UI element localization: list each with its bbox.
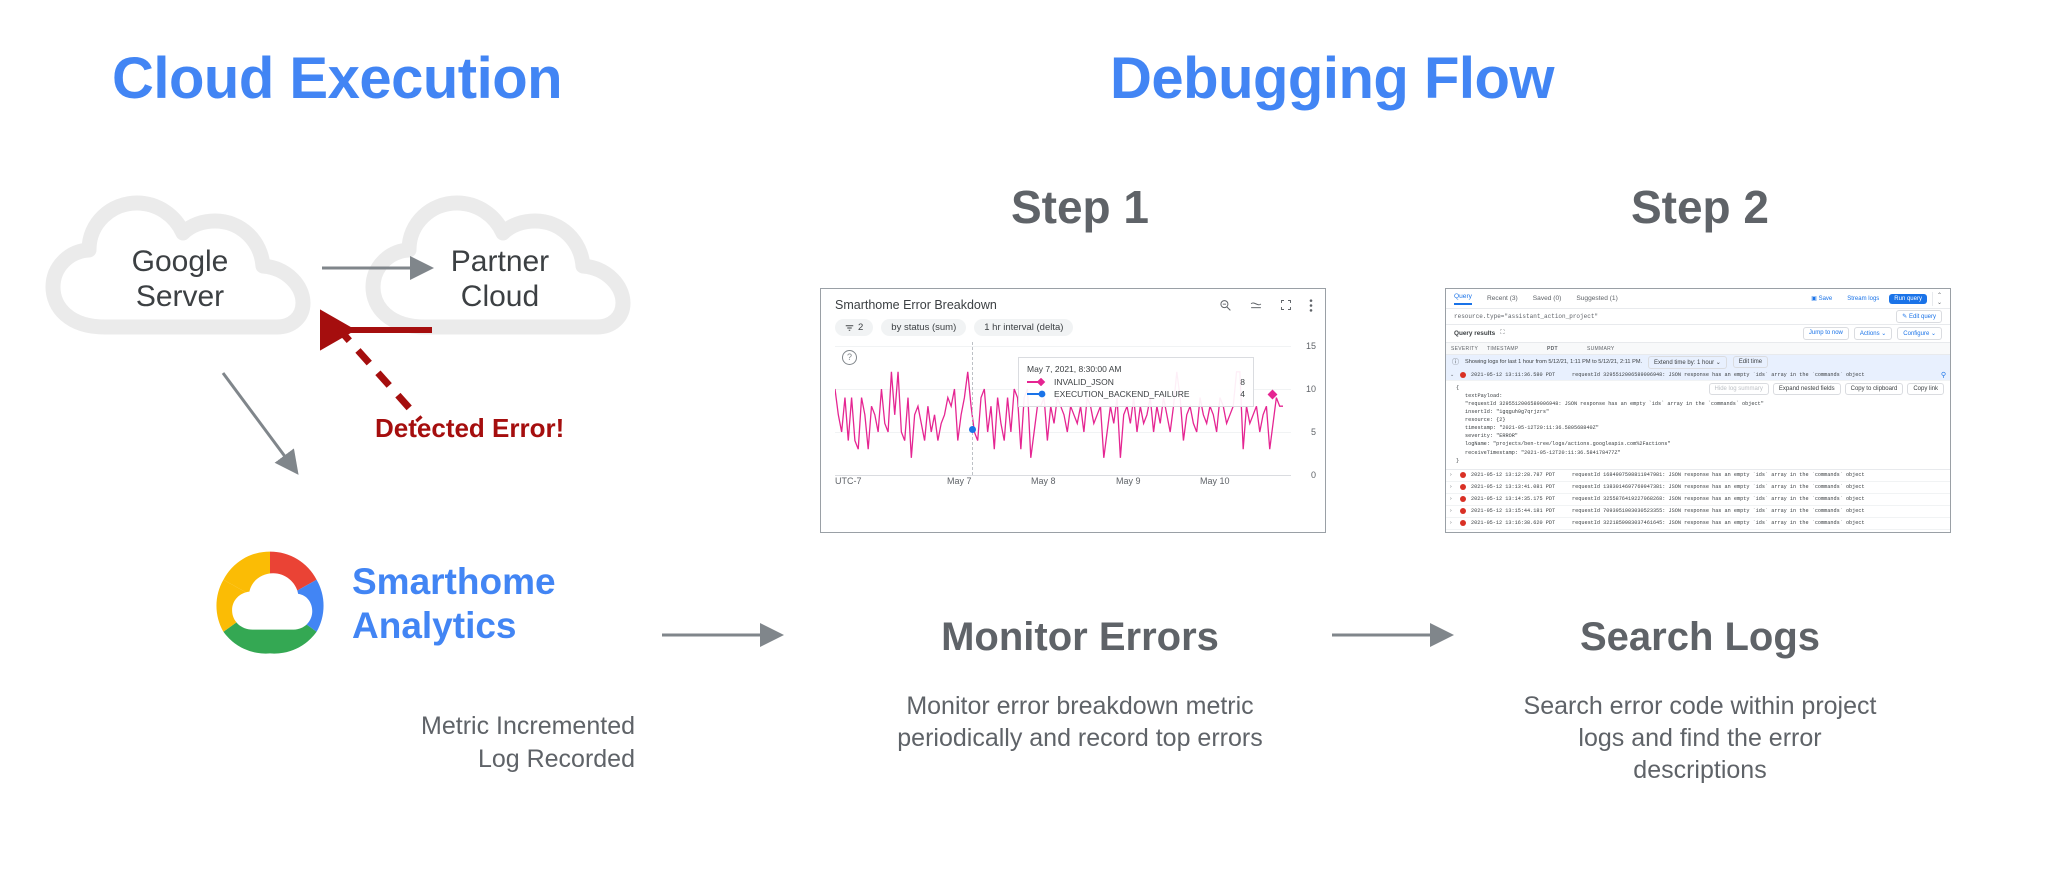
google-cloud-logo [205, 545, 335, 660]
save-button[interactable]: ▣ Save [1806, 293, 1837, 304]
tooltip-series-execution-backend-failure: EXECUTION_BACKEND_FAILURE [1054, 389, 1190, 399]
edit-query-label: Edit query [1909, 314, 1936, 320]
ytick-5: 5 [1311, 427, 1316, 437]
legend-swatch-execution-backend-failure [1027, 390, 1049, 398]
query-results-label: Query results [1454, 330, 1495, 337]
caption-line2: Log Recorded [260, 743, 635, 776]
metric-flow-arrow [215, 365, 345, 505]
log-summary: requestId 1684907598811947981: JSON resp… [1572, 472, 1865, 478]
selected-log-timestamp: 2021-05-12 13:11:36.580 PDT [1471, 372, 1567, 378]
json-line-6: severity: "ERROR" [1456, 432, 1946, 440]
selected-log-summary: requestId 3295512006589006948: JSON resp… [1572, 372, 1865, 378]
log-timestamp: 2021-05-12 13:16:38.620 PDT [1471, 520, 1567, 526]
tooltip-series-invalid-json: INVALID_JSON [1054, 377, 1114, 387]
tooltip-row-execution-backend-failure: EXECUTION_BACKEND_FAILURE 4 [1027, 389, 1245, 399]
detected-error-label: Detected Error! [375, 413, 564, 444]
step-1-label: Step 1 [880, 180, 1280, 234]
chart-plot-area: ? 15 10 5 0 UTC-7 May 7 May 8 May 9 May … [835, 342, 1315, 500]
json-line-3: insertId: "1gqguh9g7qrjzrs" [1456, 408, 1946, 416]
tooltip-row-invalid-json: INVALID_JSON 8 [1027, 377, 1245, 387]
json-line-5: timestamp: "2021-05-12T20:11:36.58056884… [1456, 424, 1946, 432]
log-timestamp: 2021-05-12 13:15:44.181 PDT [1471, 508, 1567, 514]
logs-explorer-card: Query Recent (3) Saved (0) Suggested (1)… [1445, 288, 1951, 533]
col-severity: SEVERITY [1446, 346, 1487, 352]
chevron-down-icon-2: ⌄ [1931, 331, 1936, 337]
tooltip-timestamp: May 7, 2021, 8:30:00 AM [1027, 364, 1245, 374]
json-line-7: logName: "projects/ben-tree/logs/actions… [1456, 440, 1946, 448]
fullscreen-icon[interactable] [1280, 299, 1292, 311]
edit-query-button[interactable]: ✎ Edit query [1896, 310, 1942, 323]
filter-icon [845, 324, 854, 332]
copy-link-button[interactable]: Copy link [1907, 383, 1944, 395]
ytick-10: 10 [1306, 384, 1316, 394]
google-server-label-line1: Google [65, 245, 295, 280]
chevron-down-icon: ⌄ [1881, 331, 1886, 337]
error-breakdown-chart-card: Smarthome Error Breakdown [820, 288, 1326, 533]
extend-time-button[interactable]: Extend time by: 1 hour ⌄ [1648, 356, 1727, 369]
step-2-flow-title: Search Logs [1500, 615, 1900, 660]
info-icon: ⓘ [1452, 357, 1459, 367]
hide-log-summary-button[interactable]: Hide log summary [1709, 383, 1769, 395]
json-line-4[interactable]: resource: {2} [1456, 416, 1946, 424]
severity-error-icon [1460, 496, 1466, 502]
log-row[interactable]: ›2021-05-12 13:14:35.175 PDTrequestId 32… [1446, 494, 1950, 506]
jump-to-now-button[interactable]: Jump to now [1803, 327, 1849, 340]
log-timestamp: 2021-05-12 13:13:41.081 PDT [1471, 484, 1567, 490]
chart-highlight-point-blue [969, 426, 976, 433]
severity-error-icon [1460, 532, 1466, 533]
stream-logs-button[interactable]: Stream logs [1842, 294, 1884, 304]
chart-cursor-line [972, 342, 974, 475]
search-icon[interactable] [1219, 299, 1232, 312]
ytick-0: 0 [1311, 470, 1316, 480]
actions-menu-label: Actions [1860, 331, 1880, 337]
expand-caret-icon[interactable]: › [1450, 472, 1455, 478]
json-line-2: "requestId 3295512006589006948: JSON res… [1456, 400, 1946, 408]
compare-icon[interactable] [1249, 299, 1263, 312]
chevron-down-icon-3: ⌄ [1716, 360, 1721, 366]
expand-caret-icon[interactable]: ⌄ [1450, 372, 1455, 378]
tab-saved[interactable]: Saved (0) [1533, 295, 1562, 302]
cloud-execution-caption: Metric Incremented Log Recorded [260, 710, 635, 775]
json-line-9: } [1456, 457, 1946, 465]
log-summary: requestId 3221859983037461645: JSON resp… [1572, 520, 1865, 526]
col-timestamp: TIMESTAMP [1487, 346, 1547, 352]
log-row[interactable]: ›2021-05-12 13:15:44.181 PDTrequestId 70… [1446, 506, 1950, 518]
json-line-8: receiveTimestamp: "2021-05-12T20:11:36.5… [1456, 449, 1946, 457]
log-timestamp: 2021-05-12 13:14:35.175 PDT [1471, 496, 1567, 502]
severity-error-icon [1460, 372, 1466, 378]
query-text: resource.type="assistant_action_project" [1454, 313, 1598, 320]
caption-line1: Metric Incremented [260, 710, 635, 743]
smarthome-analytics-line1: Smarthome [352, 560, 556, 604]
step-1-flow-title: Monitor Errors [880, 615, 1280, 660]
log-timestamp: 2021-05-12 13:12:28.787 PDT [1471, 472, 1567, 478]
pin-icon[interactable]: ⚲ [1941, 371, 1946, 379]
configure-menu-label: Configure [1903, 331, 1929, 337]
tooltip-value-execution-backend-failure: 4 [1240, 389, 1245, 399]
expand-caret-icon[interactable]: › [1450, 496, 1455, 502]
tab-query[interactable]: Query [1454, 293, 1472, 305]
edit-time-button[interactable]: Edit time [1733, 356, 1768, 368]
expand-caret-icon[interactable]: › [1450, 532, 1455, 533]
step-2-flow-desc: Search error code within project logs an… [1510, 690, 1890, 786]
log-row[interactable]: ›2021-05-12 13:12:28.787 PDTrequestId 16… [1446, 470, 1950, 482]
expand-results-icon[interactable]: ⛶ [1500, 330, 1504, 337]
smarthome-analytics-line2: Analytics [352, 604, 556, 648]
filter-chip-label: 2 [858, 322, 863, 333]
logs-tab-bar: Query Recent (3) Saved (0) Suggested (1)… [1446, 289, 1950, 309]
log-summary: requestId 4728977036674580557: JSON resp… [1572, 532, 1865, 533]
severity-error-icon [1460, 484, 1466, 490]
time-range-text: Showing logs for last 1 hour from 5/12/2… [1465, 359, 1642, 365]
col-pdt[interactable]: PDT [1547, 346, 1587, 352]
log-rows-list: ›2021-05-12 13:12:28.787 PDTrequestId 16… [1446, 470, 1950, 533]
severity-error-icon [1460, 472, 1466, 478]
log-summary: requestId 7093951003030523355: JSON resp… [1572, 508, 1865, 514]
actions-menu[interactable]: Actions ⌄ [1854, 327, 1892, 340]
expand-caret-icon[interactable]: › [1450, 520, 1455, 526]
pencil-icon: ✎ [1902, 314, 1907, 320]
log-detail-panel: Hide log summary Expand nested fields Co… [1446, 381, 1950, 470]
log-timestamp: 2021-05-12 13:48:48.484 PDT [1471, 532, 1567, 533]
google-server-label: Google Server [65, 245, 295, 314]
logs-column-headers: SEVERITY TIMESTAMP PDT SUMMARY [1446, 343, 1950, 355]
step-1-flow-desc: Monitor error breakdown metric periodica… [890, 690, 1270, 754]
query-editor-row[interactable]: resource.type="assistant_action_project"… [1446, 309, 1950, 325]
cloud-execution-title: Cloud Execution [112, 45, 562, 112]
connector-arrow-2 [1330, 620, 1470, 650]
more-vert-icon[interactable] [1309, 299, 1313, 312]
severity-error-icon [1460, 520, 1466, 526]
expand-caret-icon[interactable]: › [1450, 508, 1455, 514]
interval-chip[interactable]: 1 hr interval (delta) [974, 319, 1073, 336]
log-row[interactable]: ›2021-05-12 13:16:38.620 PDTrequestId 32… [1446, 518, 1950, 530]
save-icon: ▣ [1811, 296, 1817, 302]
time-range-banner: ⓘ Showing logs for last 1 hour from 5/12… [1446, 355, 1950, 369]
selected-log-row[interactable]: ⌄ 2021-05-12 13:11:36.580 PDT requestId … [1446, 369, 1950, 381]
log-row[interactable]: ›2021-05-12 13:48:48.484 PDTrequestId 47… [1446, 530, 1950, 533]
legend-swatch-invalid-json [1027, 378, 1049, 386]
google-server-label-line2: Server [65, 280, 295, 315]
log-summary: requestId 3255876419227068268: JSON resp… [1572, 496, 1865, 502]
ytick-15: 15 [1306, 341, 1316, 351]
chart-tooltip: May 7, 2021, 8:30:00 AM INVALID_JSON 8 E… [1018, 357, 1254, 407]
filter-chip[interactable]: 2 [835, 319, 873, 336]
save-button-label: Save [1819, 296, 1833, 302]
run-query-button[interactable]: Run query [1889, 294, 1927, 304]
configure-menu[interactable]: Configure ⌄ [1897, 327, 1942, 340]
query-results-row: Query results ⛶ Jump to now Actions ⌄ Co… [1446, 325, 1950, 343]
extend-time-label: Extend time by: 1 hour [1654, 360, 1714, 366]
severity-error-icon [1460, 508, 1466, 514]
chart-title: Smarthome Error Breakdown [835, 298, 997, 312]
tab-suggested[interactable]: Suggested (1) [1576, 295, 1617, 302]
expand-collapse-icon[interactable]: ⌃⌄ [1932, 292, 1942, 306]
tooltip-value-invalid-json: 8 [1240, 377, 1245, 387]
expand-nested-fields-button[interactable]: Expand nested fields [1773, 383, 1841, 395]
connector-arrow-1 [660, 620, 800, 650]
copy-to-clipboard-button[interactable]: Copy to clipboard [1845, 383, 1904, 395]
log-row[interactable]: ›2021-05-12 13:13:41.081 PDTrequestId 13… [1446, 482, 1950, 494]
log-summary: requestId 1383014697769947381: JSON resp… [1572, 484, 1865, 490]
col-summary: SUMMARY [1587, 346, 1615, 352]
debugging-flow-title: Debugging Flow [1110, 45, 1554, 112]
step-2-label: Step 2 [1500, 180, 1900, 234]
smarthome-analytics-title: Smarthome Analytics [352, 560, 556, 649]
group-by-chip[interactable]: by status (sum) [881, 319, 966, 336]
expand-caret-icon[interactable]: › [1450, 484, 1455, 490]
tab-recent[interactable]: Recent (3) [1487, 295, 1518, 302]
